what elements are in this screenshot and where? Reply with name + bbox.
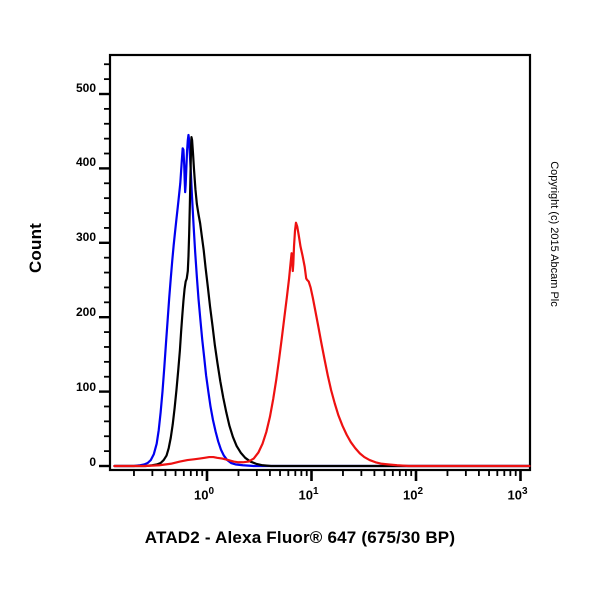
y-tick-label-500: 500: [50, 81, 96, 95]
x-tick-label-1: 101: [299, 486, 319, 502]
y-tick-label-200: 200: [50, 305, 96, 319]
x-tick-label-2: 102: [403, 486, 423, 502]
x-tick-label-3: 103: [508, 486, 528, 502]
series-curve-isotype-control: [114, 137, 529, 466]
series-group: [114, 135, 529, 466]
flow-cytometry-figure: Count ATAD2 - Alexa Fluor® 647 (675/30 B…: [0, 0, 600, 600]
x-tick-label-0: 100: [194, 486, 214, 502]
y-tick-label-300: 300: [50, 230, 96, 244]
y-axis-title: Count: [26, 188, 46, 308]
y-tick-label-0: 0: [50, 455, 96, 469]
series-curve-atad2-stained: [114, 223, 529, 466]
copyright-watermark: Copyright (c) 2015 Abcam Plc: [548, 154, 560, 314]
series-curve-unstained-control: [114, 135, 529, 466]
axis-ticks: [99, 64, 521, 481]
x-axis-title: ATAD2 - Alexa Fluor® 647 (675/30 BP): [0, 528, 600, 548]
y-tick-label-100: 100: [50, 380, 96, 394]
x-axis-title-text: ATAD2 - Alexa Fluor® 647 (675/30 BP): [145, 528, 455, 547]
y-tick-label-400: 400: [50, 155, 96, 169]
